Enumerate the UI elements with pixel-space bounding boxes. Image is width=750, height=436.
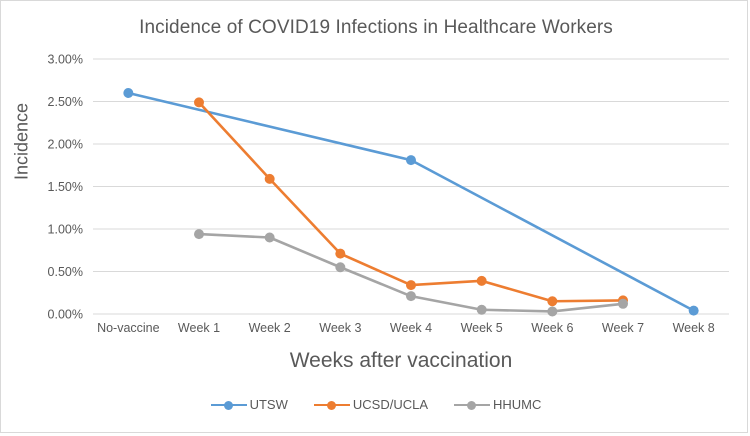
data-series (123, 88, 698, 316)
x-axis-tick-label: Week 6 (531, 321, 573, 335)
x-axis-tick-label: Week 4 (390, 321, 432, 335)
y-axis-tick-label: 1.50% (48, 180, 83, 194)
x-axis-tick-label: No-vaccine (97, 321, 160, 335)
x-axis-tick-labels: No-vaccineWeek 1Week 2Week 3Week 4Week 5… (97, 321, 715, 335)
chart-container: Incidence of COVID19 Infections in Healt… (0, 0, 748, 433)
y-axis-tick-label: 3.00% (48, 53, 83, 67)
x-axis-tick-label: Week 3 (319, 321, 361, 335)
legend-item-utsw[interactable]: UTSW (211, 397, 288, 412)
x-axis-tick-label: Week 7 (602, 321, 644, 335)
data-point-ucsd-ucla (265, 174, 275, 184)
legend-label: UTSW (247, 397, 288, 412)
data-point-hhumc (335, 262, 345, 272)
legend-item-ucsd-ucla[interactable]: UCSD/UCLA (314, 397, 428, 412)
y-axis-tick-label: 2.50% (48, 95, 83, 109)
data-point-hhumc (477, 305, 487, 315)
gridlines (93, 59, 729, 314)
data-point-hhumc (618, 299, 628, 309)
data-point-hhumc (265, 233, 275, 243)
data-point-ucsd-ucla (335, 249, 345, 259)
legend-item-hhumc[interactable]: HHUMC (454, 397, 541, 412)
x-axis-tick-label: Week 5 (461, 321, 503, 335)
data-point-utsw (689, 306, 699, 316)
data-point-utsw (123, 88, 133, 98)
data-point-ucsd-ucla (547, 296, 557, 306)
legend-label: UCSD/UCLA (350, 397, 428, 412)
data-point-utsw (406, 155, 416, 165)
data-point-ucsd-ucla (477, 276, 487, 286)
y-axis-tick-label: 0.00% (48, 308, 83, 322)
data-point-hhumc (194, 229, 204, 239)
legend-marker-icon (314, 398, 350, 412)
data-point-hhumc (547, 306, 557, 316)
legend-marker-icon (211, 398, 247, 412)
data-point-ucsd-ucla (406, 280, 416, 290)
x-axis-tick-label: Week 2 (249, 321, 291, 335)
legend-marker-icon (454, 398, 490, 412)
data-point-ucsd-ucla (194, 97, 204, 107)
x-axis-tick-label: Week 8 (673, 321, 715, 335)
chart-legend: UTSWUCSD/UCLAHHUMC (1, 397, 750, 412)
data-point-hhumc (406, 291, 416, 301)
x-axis-tick-label: Week 1 (178, 321, 220, 335)
y-axis-tick-label: 0.50% (48, 265, 83, 279)
y-axis-tick-labels: 3.00%2.50%2.00%1.50%1.00%0.50%0.00% (48, 53, 83, 322)
legend-label: HHUMC (490, 397, 541, 412)
x-axis-title: Weeks after vaccination (81, 349, 721, 373)
y-axis-tick-label: 1.00% (48, 223, 83, 237)
series-line-utsw (128, 93, 693, 311)
y-axis-tick-label: 2.00% (48, 138, 83, 152)
